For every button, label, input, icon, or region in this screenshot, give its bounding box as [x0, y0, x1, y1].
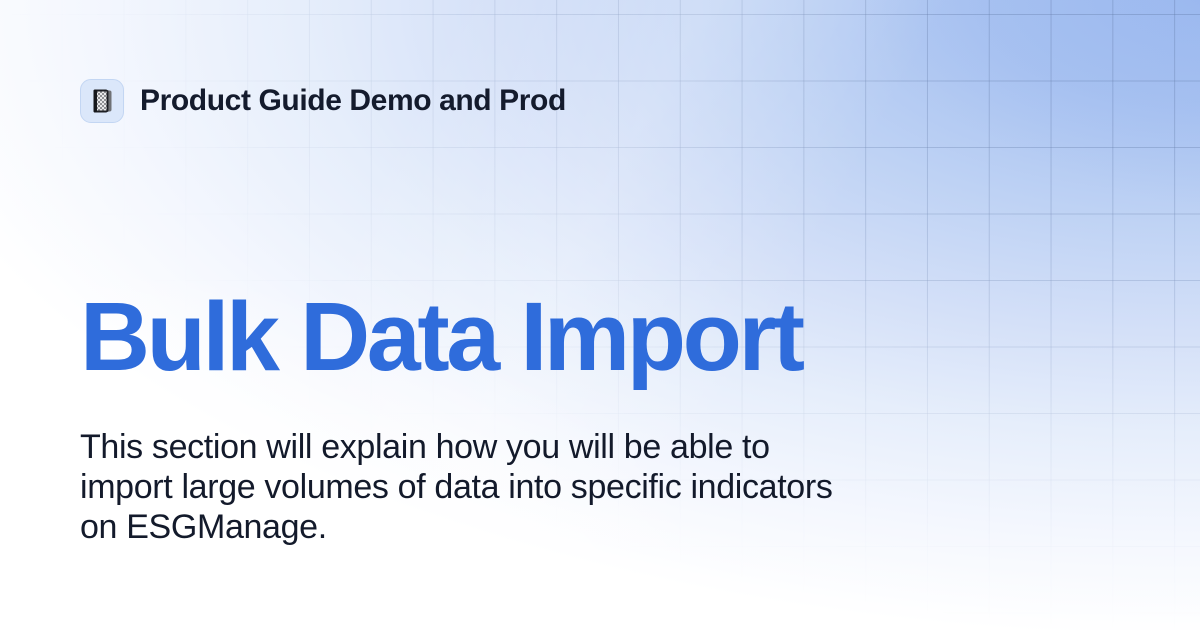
cover-slide: Product Guide Demo and Prod Bulk Data Im… [0, 0, 1200, 630]
brand-header: Product Guide Demo and Prod [80, 79, 566, 123]
slide-content: Product Guide Demo and Prod Bulk Data Im… [0, 0, 1200, 630]
notebook-icon [80, 79, 124, 123]
page-description: This section will explain how you will b… [80, 427, 870, 547]
brand-title: Product Guide Demo and Prod [140, 86, 566, 116]
page-title: Bulk Data Import [80, 288, 802, 387]
